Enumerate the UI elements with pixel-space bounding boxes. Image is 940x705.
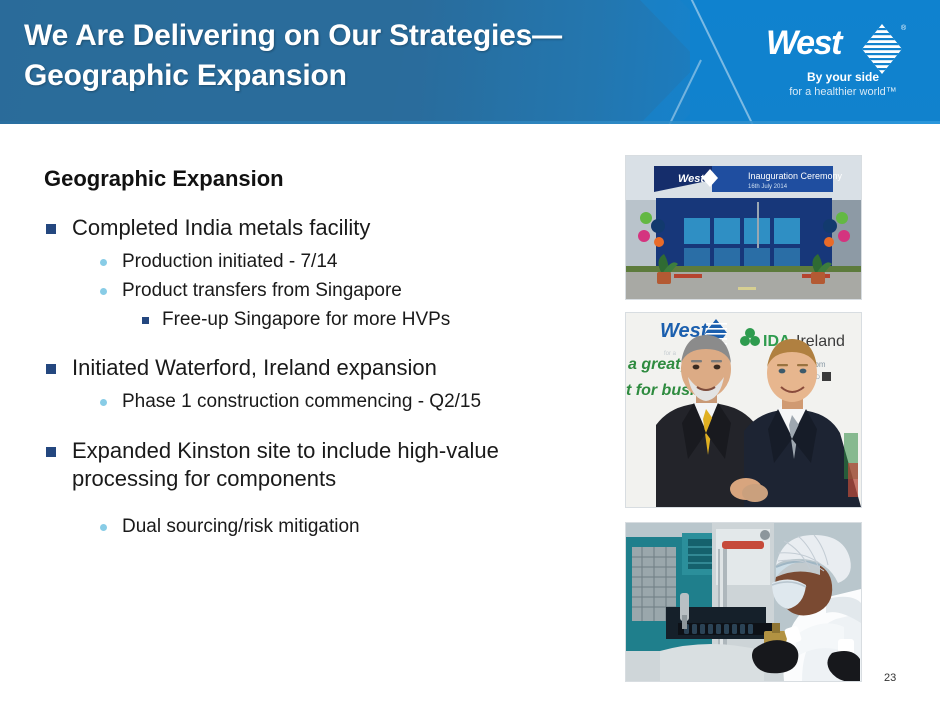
- photo-ireland-handshake: West IDA Ireland reland.com IRELAND a gr…: [625, 312, 862, 508]
- page-title: We Are Delivering on Our Strategies— Geo…: [24, 16, 684, 96]
- bullet-text: Production initiated - 7/14: [122, 250, 337, 275]
- bullet-square-icon: [46, 364, 56, 374]
- bullet-text: Completed India metals facility: [72, 214, 370, 242]
- west-logo-diamond-icon: [862, 24, 902, 74]
- registered-trademark-mark: ®: [901, 25, 906, 32]
- bullet-level1-waterford: Initiated Waterford, Ireland expansion: [44, 354, 574, 382]
- bullet-text: Expanded Kinston site to include high-va…: [72, 437, 574, 493]
- svg-text:for a: for a: [664, 351, 677, 357]
- bullet-small-square-icon: [142, 317, 149, 324]
- bullet-text: Dual sourcing/risk mitigation: [122, 515, 360, 540]
- photo-kinston-operator: [625, 522, 862, 682]
- bullet-level2-product-transfers: Product transfers from Singapore: [44, 279, 574, 304]
- svg-text:a great,: a great,: [628, 356, 685, 373]
- page-title-line-2: Geographic Expansion: [24, 56, 684, 96]
- bullet-text: Free-up Singapore for more HVPs: [162, 308, 450, 333]
- page-number: 23: [884, 672, 896, 684]
- bullet-dot-icon: [100, 399, 107, 406]
- bullet-level2-production-initiated: Production initiated - 7/14: [44, 250, 574, 275]
- svg-text:16th July 2014: 16th July 2014: [748, 184, 788, 190]
- bullet-square-icon: [46, 447, 56, 457]
- svg-text:West: West: [678, 173, 705, 185]
- bullet-level1-india: Completed India metals facility: [44, 214, 574, 242]
- bullet-level2-phase1-construction: Phase 1 construction commencing - Q2/15: [44, 390, 574, 415]
- bullet-dot-icon: [100, 524, 107, 531]
- west-logo-wordmark: West: [766, 24, 841, 63]
- bullet-group-spacer: [44, 336, 574, 354]
- bullet-text: Phase 1 construction commencing - Q2/15: [122, 390, 481, 415]
- slide-header-banner: We Are Delivering on Our Strategies— Geo…: [0, 0, 940, 124]
- bullet-dot-icon: [100, 259, 107, 266]
- page-title-line-1: We Are Delivering on Our Strategies—: [24, 16, 684, 56]
- bullet-square-icon: [46, 224, 56, 234]
- bullet-text: Initiated Waterford, Ireland expansion: [72, 354, 437, 382]
- bullet-dot-icon: [100, 288, 107, 295]
- bullet-level3-free-up-singapore: Free-up Singapore for more HVPs: [44, 308, 574, 333]
- bullet-group-spacer: [44, 419, 574, 437]
- photo-india-facility: West Inauguration Ceremony 16th July 201…: [625, 155, 862, 300]
- bullet-group-spacer: [44, 501, 574, 515]
- slide-geographic-expansion: We Are Delivering on Our Strategies— Geo…: [0, 0, 940, 705]
- west-logo: West: [762, 22, 924, 104]
- logo-tagline-line-1: By your side: [762, 70, 924, 84]
- section-subheading: Geographic Expansion: [44, 166, 574, 192]
- content-column: Geographic Expansion Completed India met…: [44, 166, 574, 544]
- header-bottom-strip: [0, 121, 940, 124]
- bullet-level1-kinston: Expanded Kinston site to include high-va…: [44, 437, 574, 493]
- bullet-level2-dual-sourcing: Dual sourcing/risk mitigation: [44, 515, 574, 540]
- svg-text:Inauguration Ceremony: Inauguration Ceremony: [748, 171, 843, 181]
- logo-tagline-line-2: for a healthier world™: [762, 86, 924, 98]
- bullet-text: Product transfers from Singapore: [122, 279, 402, 304]
